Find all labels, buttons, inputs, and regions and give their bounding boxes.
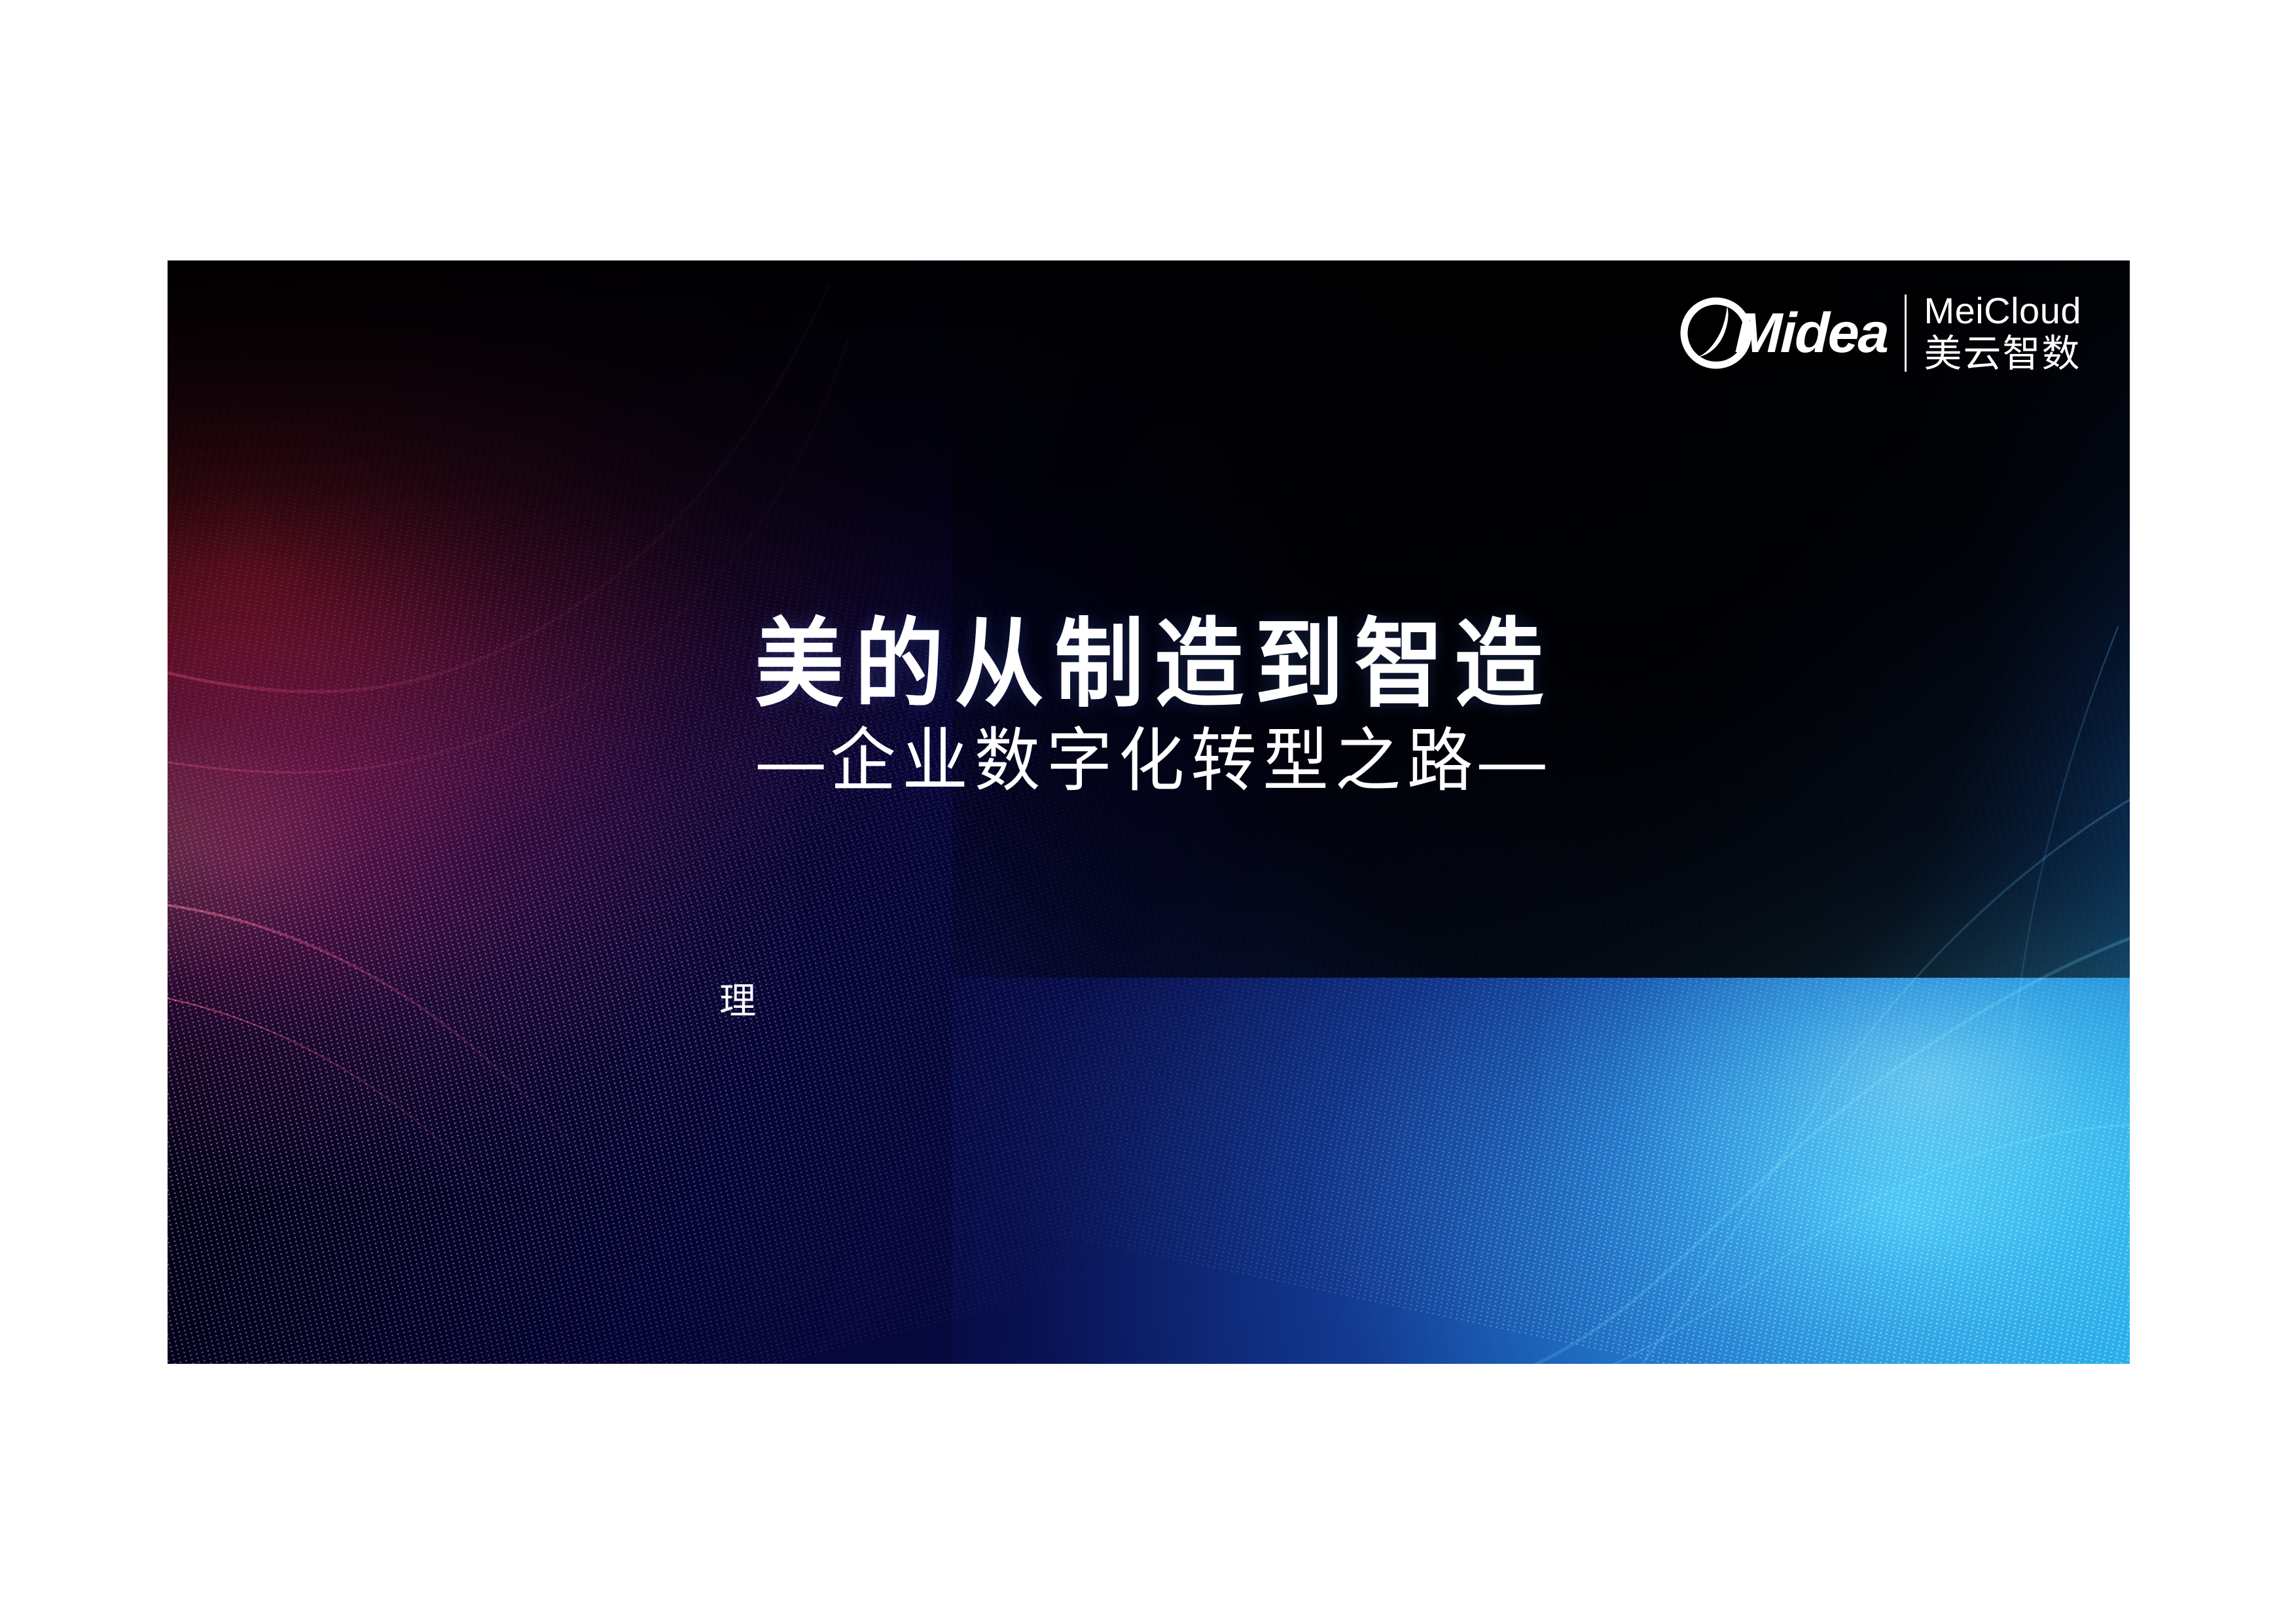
presentation-slide: Midea MeiCloud 美云智数 美的从制造到智造 —企业数字化转型之路—… <box>168 260 2130 1364</box>
logo-divider <box>1905 294 1907 372</box>
meicloud-lockup: MeiCloud 美云智数 <box>1924 292 2081 374</box>
slide-subtitle: —企业数字化转型之路— <box>607 721 1702 802</box>
slide-main-title: 美的从制造到智造 <box>624 614 1684 717</box>
title-block: 美的从制造到智造 —企业数字化转型之路— <box>579 614 1731 802</box>
meicloud-chinese-name: 美云智数 <box>1924 334 2081 374</box>
midea-logo: Midea <box>1677 294 1888 372</box>
presenter-name: 理 <box>719 979 757 1023</box>
meicloud-english-name: MeiCloud <box>1924 292 2081 330</box>
midea-wordmark: Midea <box>1734 305 1889 361</box>
page-canvas: Midea MeiCloud 美云智数 美的从制造到智造 —企业数字化转型之路—… <box>0 0 2296 1623</box>
brand-logo-lockup: Midea MeiCloud 美云智数 <box>1677 292 2081 374</box>
